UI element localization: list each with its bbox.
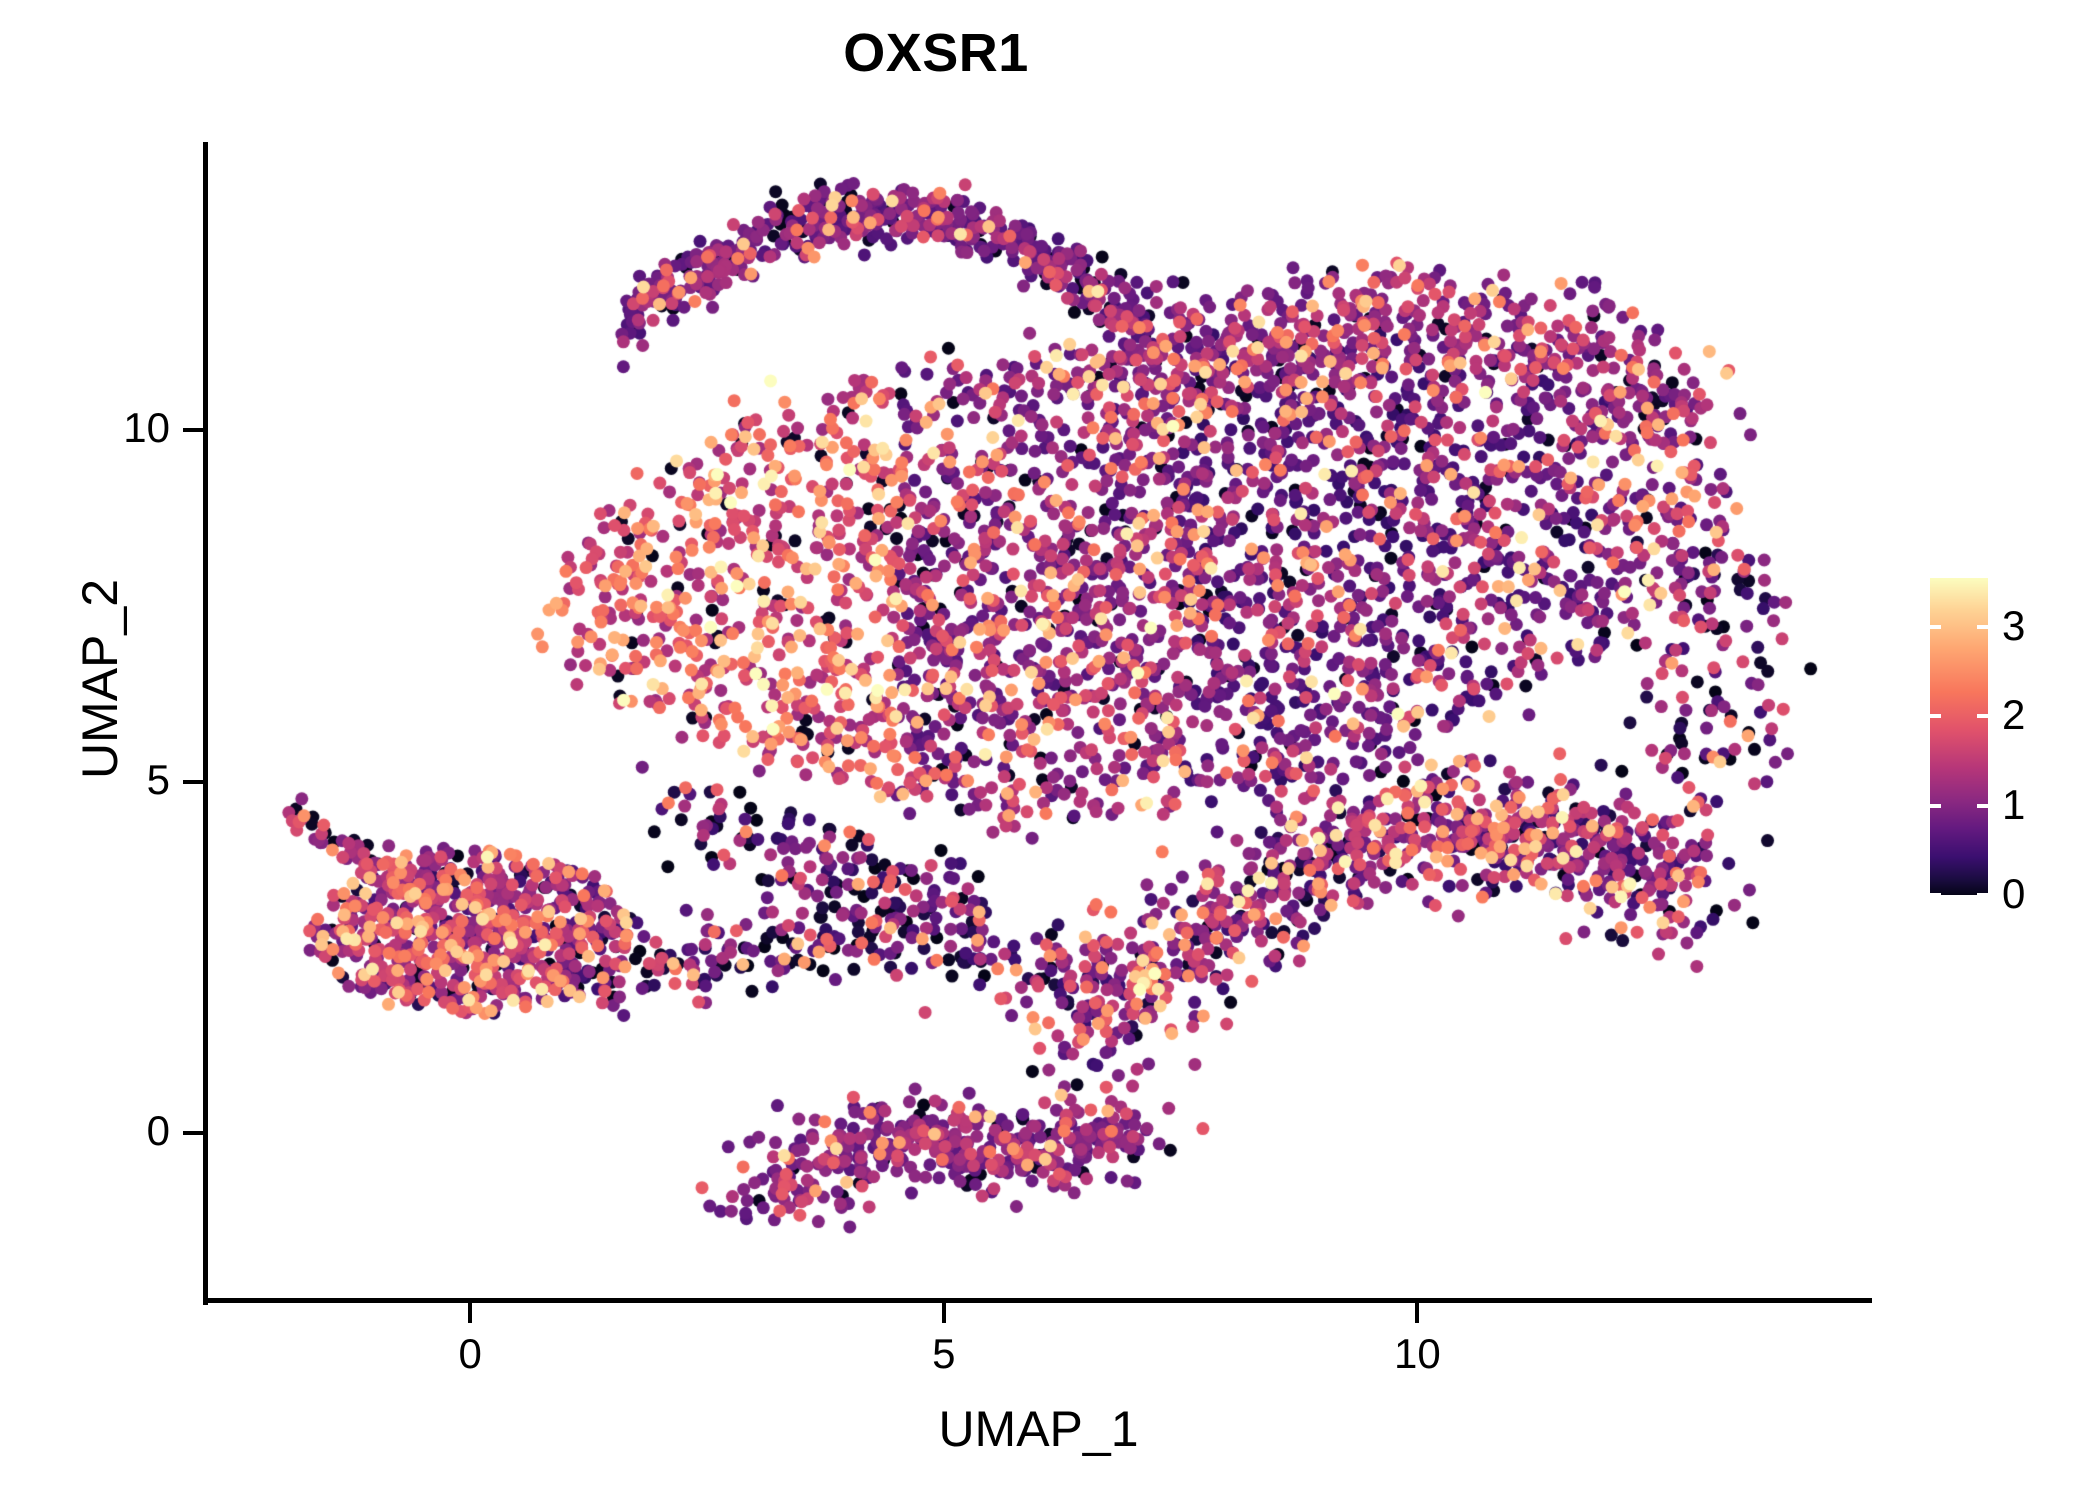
colorbar-label-0: 0 <box>2002 873 2025 915</box>
colorbar-label-1: 1 <box>2002 784 2025 826</box>
y-axis-title: UMAP_2 <box>71 279 129 1079</box>
y-axis-line <box>203 142 208 1305</box>
x-axis-title: UMAP_1 <box>205 1400 1872 1458</box>
colorbar-tick-1-left <box>1930 804 1941 808</box>
colorbar-tick-0-right <box>1977 893 1988 897</box>
colorbar-tick-0-left <box>1930 893 1941 897</box>
colorbar-tick-3-right <box>1977 625 1988 629</box>
y-tick-mark-5 <box>183 780 203 784</box>
colorbar-label-2: 2 <box>2002 694 2025 736</box>
y-tick-mark-0 <box>183 1131 203 1135</box>
page-title: OXSR1 <box>0 22 1872 84</box>
x-tick-label-5: 5 <box>874 1330 1014 1378</box>
figure-root: OXSR1 10 5 0 0 5 10 UMAP_1 UMAP_2 3 2 1 … <box>0 0 2100 1500</box>
x-tick-mark-10 <box>1415 1303 1419 1323</box>
colorbar-tick-2-right <box>1977 714 1988 718</box>
x-axis-line <box>203 1298 1872 1303</box>
x-tick-mark-5 <box>942 1303 946 1323</box>
x-tick-mark-0 <box>468 1303 472 1323</box>
y-tick-label-0: 0 <box>50 1107 170 1155</box>
x-tick-label-10: 10 <box>1347 1330 1487 1378</box>
y-tick-mark-10 <box>183 428 203 432</box>
plot-panel <box>205 142 1872 1302</box>
colorbar-tick-3-left <box>1930 625 1941 629</box>
colorbar-tick-1-right <box>1977 804 1988 808</box>
colorbar-tick-2-left <box>1930 714 1941 718</box>
colorbar-label-3: 3 <box>2002 605 2025 647</box>
x-tick-label-0: 0 <box>400 1330 540 1378</box>
scatter-plot-canvas <box>205 142 1872 1302</box>
